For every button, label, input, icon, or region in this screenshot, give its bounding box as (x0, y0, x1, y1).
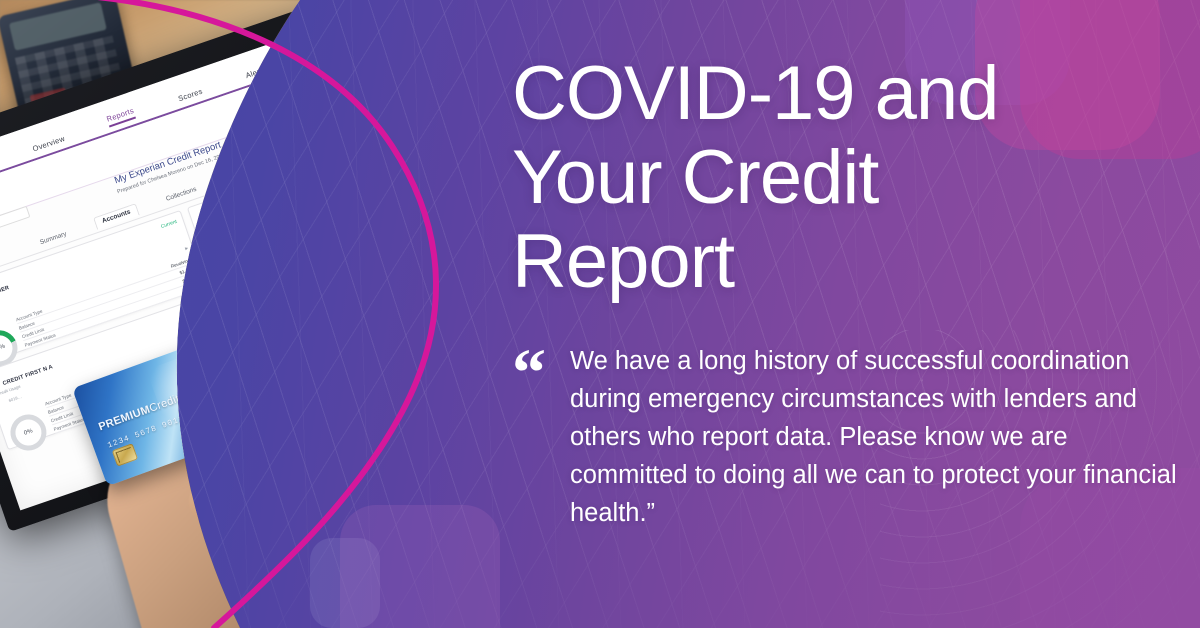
credit-usage-value: 0% (12, 416, 45, 449)
quote-text: We have a long history of successful coo… (570, 342, 1192, 532)
tab-collections[interactable]: Collections (165, 185, 197, 202)
nav-item-reports[interactable]: Reports (105, 106, 136, 128)
headline-line-2: Your Credit (512, 136, 1172, 220)
quotation-mark-icon: “ (512, 346, 564, 532)
credit-usage-value: 23% (0, 332, 16, 365)
account-number: 6019… (8, 394, 22, 403)
content-column: COVID-19 and Your Credit Report “ We hav… (512, 0, 1192, 628)
headline-line-1: COVID-19 and (512, 52, 1172, 136)
account-name: BK OF AMER (0, 285, 10, 303)
nav-item-scores[interactable]: Scores (177, 87, 204, 104)
headline-line-3: Report (512, 220, 1172, 304)
pull-quote: “ We have a long history of successful c… (512, 342, 1192, 532)
promo-banner: Overview Reports Scores Alerts experian … (0, 0, 1200, 628)
page-title: COVID-19 and Your Credit Report (512, 52, 1172, 304)
credit-usage-donut: 0% (6, 410, 52, 456)
account-name: CREDIT FIRST N A (2, 364, 54, 387)
tab-summary[interactable]: Summary (39, 230, 68, 246)
